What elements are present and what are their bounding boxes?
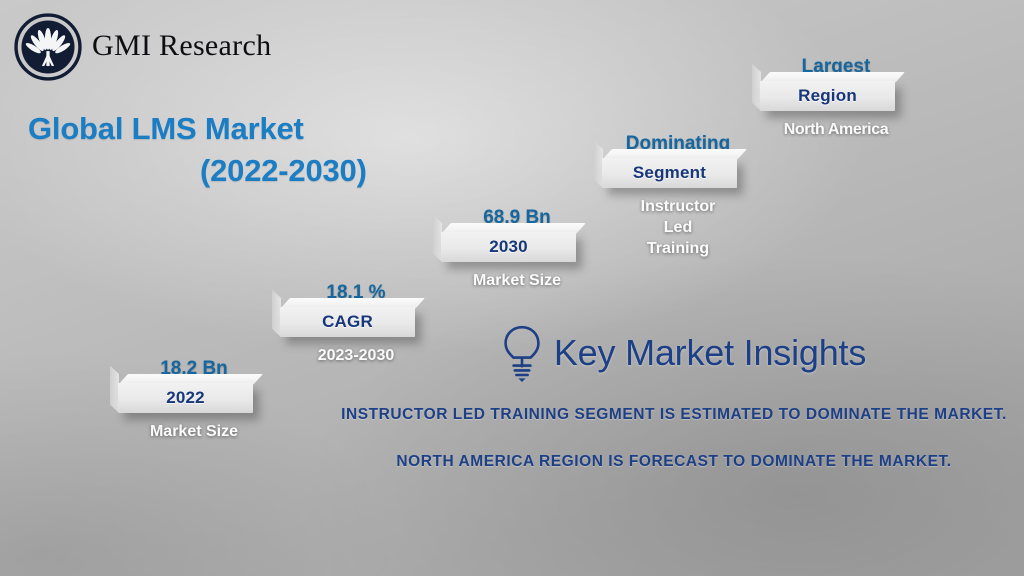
stat-block-label: 2030 [489, 237, 528, 257]
insight-bullet-2: NORTH AMERICA REGION IS FORECAST TO DOMI… [338, 449, 1010, 476]
block-front-face: Segment [602, 158, 737, 188]
stat-block-label: 2022 [166, 388, 205, 408]
page-title-line-1: Global LMS Market [28, 108, 367, 150]
stat-step-market-size-2022: 18.2 Bn 2022 Market Size [110, 358, 278, 443]
stat-caption: Market Size [110, 422, 278, 443]
brand-wordmark: GMI Research [92, 31, 271, 64]
stat-step-dominating-segment: Dominating Segment Instructor Led Traini… [594, 133, 762, 259]
insight-bullet-1: INSTRUCTOR LED TRAINING SEGMENT IS ESTIM… [338, 402, 1010, 429]
gmi-palm-logo-icon [14, 13, 82, 81]
block-front-face: Region [760, 81, 895, 111]
stat-caption: Instructor Led Training [594, 197, 762, 259]
lightbulb-icon [500, 324, 544, 382]
stat-block: 2030 [441, 232, 576, 262]
stat-block-label: Segment [633, 163, 706, 183]
stat-caption: North America [752, 120, 920, 141]
stat-step-market-size-2030: 68.9 Bn 2030 Market Size [433, 207, 601, 292]
stat-step-largest-region: Largest Region North America [752, 56, 920, 141]
brand-logo: GMI Research [14, 13, 271, 81]
stat-block: Region [760, 81, 895, 111]
page-title: Global LMS Market (2022-2030) [28, 108, 367, 191]
stat-caption: Market Size [433, 271, 601, 292]
page-title-line-2: (2022-2030) [28, 150, 367, 192]
stat-block-label: Region [798, 86, 857, 106]
insights-title: Key Market Insights [554, 332, 866, 374]
infographic-canvas: GMI Research Global LMS Market (2022-203… [0, 0, 1024, 576]
block-front-face: 2022 [118, 383, 253, 413]
block-front-face: 2030 [441, 232, 576, 262]
stat-block: Segment [602, 158, 737, 188]
insights-heading: Key Market Insights [338, 324, 1010, 382]
stat-block: 2022 [118, 383, 253, 413]
key-market-insights-section: Key Market Insights INSTRUCTOR LED TRAIN… [338, 324, 1010, 475]
